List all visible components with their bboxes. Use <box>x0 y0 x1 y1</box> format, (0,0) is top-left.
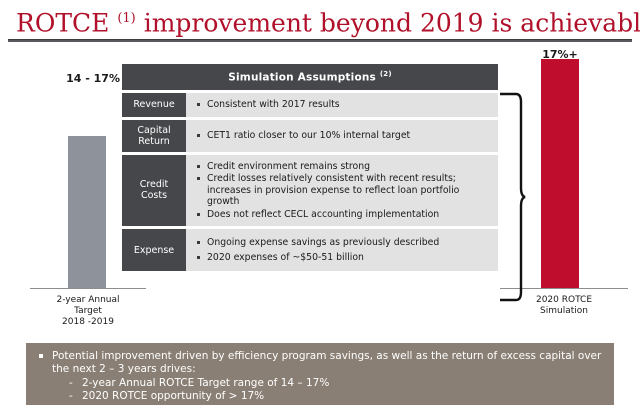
left-axis-label-line3: 2018 -2019 <box>28 317 148 328</box>
left-axis-category-label: 2-year Annual Target 2018 -2019 <box>28 295 148 328</box>
title-divider <box>8 39 632 42</box>
summary-callout-box: Potential improvement driven by efficien… <box>26 343 614 405</box>
table-row: Revenue Consistent with 2017 results <box>122 93 498 117</box>
left-axis-label-line2: Target <box>28 306 148 317</box>
table-row: Expense Ongoing expense savings as previ… <box>122 229 498 271</box>
row-label-expense: Expense <box>122 229 186 271</box>
row-body-credit-costs: Credit environment remains strong Credit… <box>186 155 498 227</box>
callout-sub-list: 2-year Annual ROTCE Target range of 14 –… <box>38 377 604 403</box>
left-bar-2year-annual-target <box>68 136 106 288</box>
page-title: ROTCE (1) improvement beyond 2019 is ach… <box>16 4 626 38</box>
callout-main-text: Potential improvement driven by efficien… <box>38 350 604 376</box>
simulation-assumptions-table: Simulation Assumptions (2) Revenue Consi… <box>122 64 498 271</box>
list-item: 2020 expenses of ~$50-51 billion <box>196 252 492 264</box>
right-bar-2020-rotce-simulation <box>541 59 579 288</box>
page-title-footnote-marker: (1) <box>117 11 135 26</box>
table-row: Capital Return CET1 ratio closer to our … <box>122 120 498 152</box>
assumptions-table-header: Simulation Assumptions (2) <box>122 64 498 90</box>
list-item: 2-year Annual ROTCE Target range of 14 –… <box>38 377 604 390</box>
table-row: Credit Costs Credit environment remains … <box>122 155 498 227</box>
list-item: Credit environment remains strong <box>196 161 492 173</box>
list-item: Does not reflect CECL accounting impleme… <box>196 209 492 221</box>
row-body-revenue: Consistent with 2017 results <box>186 93 498 117</box>
row-label-credit-costs: Credit Costs <box>122 155 186 227</box>
left-axis-baseline <box>30 288 146 289</box>
row-label-capital-return: Capital Return <box>122 120 186 152</box>
page-title-text-before: ROTCE <box>16 8 117 37</box>
rotce-bar-chart: 14 - 17% 2-year Annual Target 2018 -2019… <box>0 44 640 334</box>
left-axis-label-line1: 2-year Annual <box>28 295 148 306</box>
list-item: Ongoing expense savings as previously de… <box>196 237 492 249</box>
left-bar-value-label: 14 - 17% <box>36 72 120 85</box>
row-body-capital-return: CET1 ratio closer to our 10% internal ta… <box>186 120 498 152</box>
brace-icon <box>498 92 526 302</box>
list-item: Consistent with 2017 results <box>196 99 492 111</box>
row-label-revenue: Revenue <box>122 93 186 117</box>
list-item: 2020 ROTCE opportunity of > 17% <box>38 390 604 403</box>
row-body-expense: Ongoing expense savings as previously de… <box>186 229 498 271</box>
assumptions-header-text: Simulation Assumptions <box>228 72 380 84</box>
assumptions-header-footnote-marker: (2) <box>380 70 392 78</box>
list-item: Credit losses relatively consistent with… <box>196 173 492 208</box>
right-axis-label-line2: Simulation <box>502 306 626 317</box>
list-item: CET1 ratio closer to our 10% internal ta… <box>196 130 492 142</box>
page-title-text-after: improvement beyond 2019 is achievable <box>136 8 640 37</box>
